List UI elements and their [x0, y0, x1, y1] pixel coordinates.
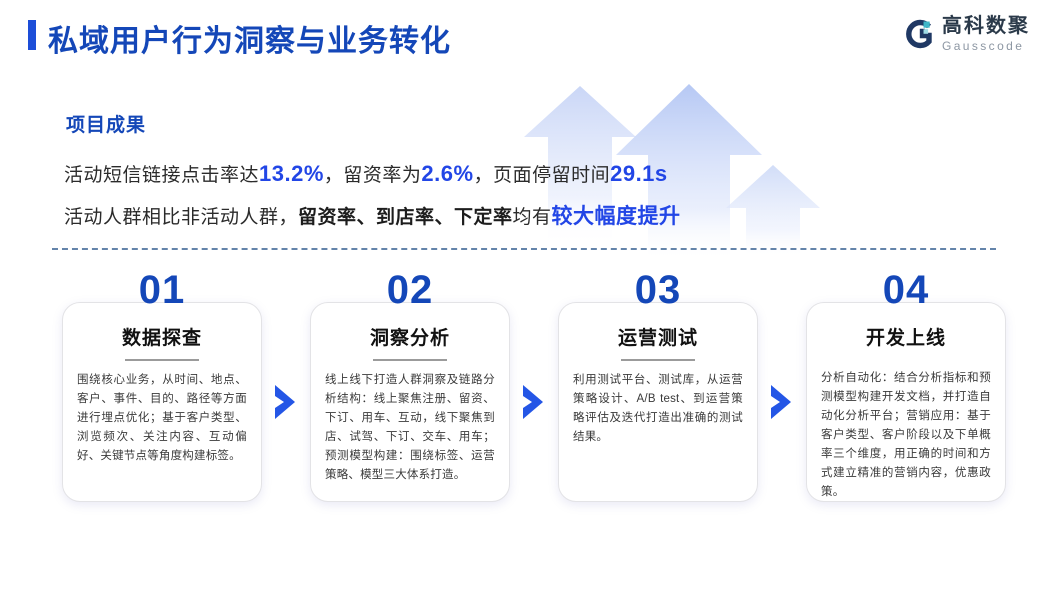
step-card-body: 数据探查 围绕核心业务，从时间、地点、客户、事件、目的、路径等方面进行埋点优化；… [62, 302, 262, 502]
step-card-03[interactable]: 03 运营测试 利用测试平台、测试库，从运营策略设计、A/B test、到运营策… [558, 302, 758, 502]
results-l2-seg2: 均有 [513, 207, 552, 228]
chevron-right-icon [768, 384, 794, 420]
step-card-body: 洞察分析 线上线下打造人群洞察及链路分析结构：线上聚焦注册、留资、下订、用车、互… [310, 302, 510, 502]
step-description: 线上线下打造人群洞察及链路分析结构：线上聚焦注册、留资、下订、用车、互动，线下聚… [325, 371, 495, 485]
step-card-body: 开发上线 分析自动化：结合分析指标和预测模型构建开发文档，并打造自动化分析平台；… [806, 302, 1006, 502]
step-number: 03 [558, 270, 758, 310]
step-title-rule [621, 359, 695, 361]
chevron-right-icon [520, 384, 546, 420]
step-number: 02 [310, 270, 510, 310]
page-title: 私域用户行为洞察与业务转化 [48, 16, 451, 60]
brand-logo: 高科数聚 Gausscode [903, 16, 1030, 52]
step-title: 洞察分析 [370, 323, 450, 350]
results-l2-highlight: 较大幅度提升 [552, 205, 681, 228]
step-card-04[interactable]: 04 开发上线 分析自动化：结合分析指标和预测模型构建开发文档，并打造自动化分析… [806, 302, 1006, 502]
metric-lead-rate: 2.6% [421, 161, 473, 186]
results-line-1: 活动短信链接点击率达13.2%，留资率为2.6%，页面停留时间29.1s [64, 160, 668, 187]
results-l2-metrics: 留资率、到店率、下定率 [298, 207, 513, 228]
results-heading: 项目成果 [66, 110, 146, 137]
step-number: 04 [806, 270, 1006, 310]
process-steps: 01 数据探查 围绕核心业务，从时间、地点、客户、事件、目的、路径等方面进行埋点… [0, 272, 1048, 522]
gausscode-logo-icon [903, 18, 935, 50]
results-l1-seg3: ，页面停留时间 [474, 165, 611, 186]
chevron-right-icon [272, 384, 298, 420]
step-card-body: 运营测试 利用测试平台、测试库，从运营策略设计、A/B test、到运营策略评估… [558, 302, 758, 502]
step-description: 分析自动化：结合分析指标和预测模型构建开发文档，并打造自动化分析平台；营销应用：… [821, 369, 991, 502]
step-title: 运营测试 [618, 323, 698, 350]
page-header: 私域用户行为洞察与业务转化 高科数聚 Gausscode [0, 0, 1048, 78]
results-l2-seg1: 活动人群相比非活动人群， [64, 207, 298, 228]
step-card-02[interactable]: 02 洞察分析 线上线下打造人群洞察及链路分析结构：线上聚焦注册、留资、下订、用… [310, 302, 510, 502]
results-l1-seg2: ，留资率为 [324, 165, 422, 186]
logo-name-cn: 高科数聚 [942, 16, 1030, 36]
metric-dwell-time: 29.1s [610, 161, 668, 186]
step-number: 01 [62, 270, 262, 310]
logo-name-en: Gausscode [942, 40, 1030, 52]
results-line-2: 活动人群相比非活动人群，留资率、到店率、下定率均有较大幅度提升 [64, 200, 681, 230]
step-title: 开发上线 [866, 323, 946, 350]
step-title-rule [125, 359, 199, 361]
metric-click-rate: 13.2% [259, 161, 324, 186]
step-description: 利用测试平台、测试库，从运营策略设计、A/B test、到运营策略评估及迭代打造… [573, 371, 743, 447]
step-title: 数据探查 [122, 323, 202, 350]
arrow-shape-right [726, 165, 820, 258]
section-divider [52, 248, 996, 250]
step-card-01[interactable]: 01 数据探查 围绕核心业务，从时间、地点、客户、事件、目的、路径等方面进行埋点… [62, 302, 262, 502]
results-l1-seg1: 活动短信链接点击率达 [64, 165, 259, 186]
title-accent-bar [28, 20, 36, 50]
step-description: 围绕核心业务，从时间、地点、客户、事件、目的、路径等方面进行埋点优化；基于客户类… [77, 371, 247, 466]
step-title-rule [373, 359, 447, 361]
